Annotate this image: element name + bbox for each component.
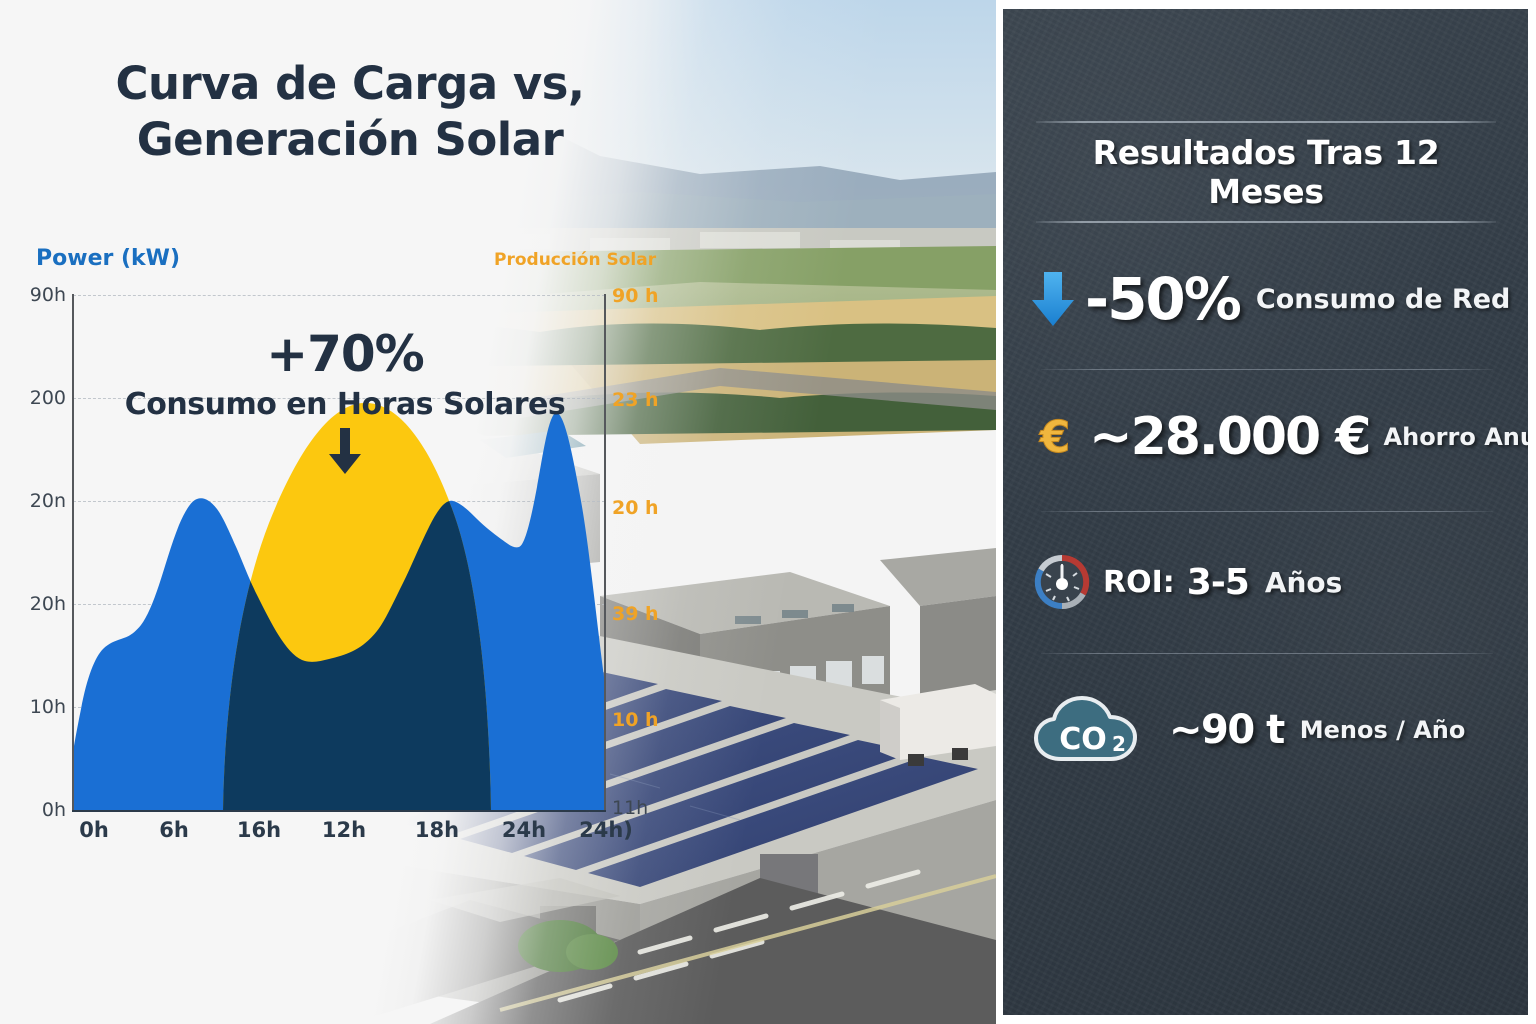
stat-label: Menos / Año [1300,716,1466,744]
stat-value: -50% [1085,265,1240,333]
stat-value: 3-5 [1187,562,1249,603]
y-axis-ticks-right: 90 h 23 h 20 h 39 h 10 h 11h [612,0,732,1024]
y-tick-left: 0h [6,799,66,821]
results-panel-header: Resultados Tras 12 Meses [1036,121,1496,223]
y-tick-right: 23 h [612,389,659,411]
stat-label: Años [1265,566,1343,599]
stat-row-roi[interactable]: ROI: 3-5 Años [1031,551,1511,613]
header-rule-bottom [1036,221,1496,223]
stat-prefix: ROI: [1103,565,1175,600]
stat-row-consumo-de-red[interactable]: -50% Consumo de Red [1031,265,1511,333]
x-tick: 6h [159,818,189,842]
title-line-1: Curva de Carga vs, [0,56,700,112]
results-panel-title: Resultados Tras 12 Meses [1036,123,1496,221]
y-tick-right: 90 h [612,285,659,307]
y-tick-right: 11h [612,797,648,819]
y-tick-left: 20n [6,490,66,512]
svg-text:CO: CO [1059,722,1107,757]
y-axis-ticks-left: 90h 200 20n 20h 10h 0h [0,0,66,1024]
stat-value: ~28.000 € [1089,407,1370,467]
svg-text:€: € [1039,412,1071,463]
infographic-root: Curva de Carga vs, Generación Solar Powe… [0,0,1536,1024]
x-tick: 24h [502,818,546,842]
stat-row-co2[interactable]: CO 2 ~90 t Menos / Año [1031,693,1511,767]
y-axis-line [72,294,74,812]
y-tick-left: 10h [6,696,66,718]
x-axis-line [72,810,606,812]
gauge-icon [1031,551,1093,613]
panel-divider [1041,511,1493,512]
x-tick: 12h [322,818,366,842]
load-vs-solar-chart [73,295,605,811]
x-tick: 0h [79,818,109,842]
stat-value: ~90 t [1169,707,1284,753]
y-tick-right: 10 h [612,709,659,731]
page-title: Curva de Carga vs, Generación Solar [0,56,700,169]
svg-text:2: 2 [1112,732,1126,756]
panel-divider [1041,369,1493,370]
y-tick-right: 20 h [612,497,659,519]
stat-row-ahorro-anual[interactable]: € ~28.000 € Ahorro Anual [1031,407,1511,467]
x-tick: 18h [415,818,459,842]
y-tick-left: 200 [6,387,66,409]
co2-cloud-icon: CO 2 [1031,693,1159,767]
title-line-2: Generación Solar [0,112,700,168]
y-tick-right: 39 h [612,603,659,625]
y-tick-left: 20h [6,593,66,615]
stat-label: Consumo de Red [1256,284,1510,315]
panel-divider [1041,653,1493,654]
x-tick: 16h [237,818,281,842]
x-tick: 24h) [579,818,633,842]
blue-down-arrow-icon [1031,270,1075,328]
y-tick-left: 90h [6,284,66,306]
results-panel: Resultados Tras 12 Meses -50% Consumo de… [1003,9,1528,1015]
chart-series-svg [73,295,605,811]
stat-label: Ahorro Anual [1384,423,1528,451]
left-chart-panel: Curva de Carga vs, Generación Solar Powe… [0,0,996,1024]
right-y-axis-line [604,294,606,812]
euro-icon: € [1031,410,1079,464]
